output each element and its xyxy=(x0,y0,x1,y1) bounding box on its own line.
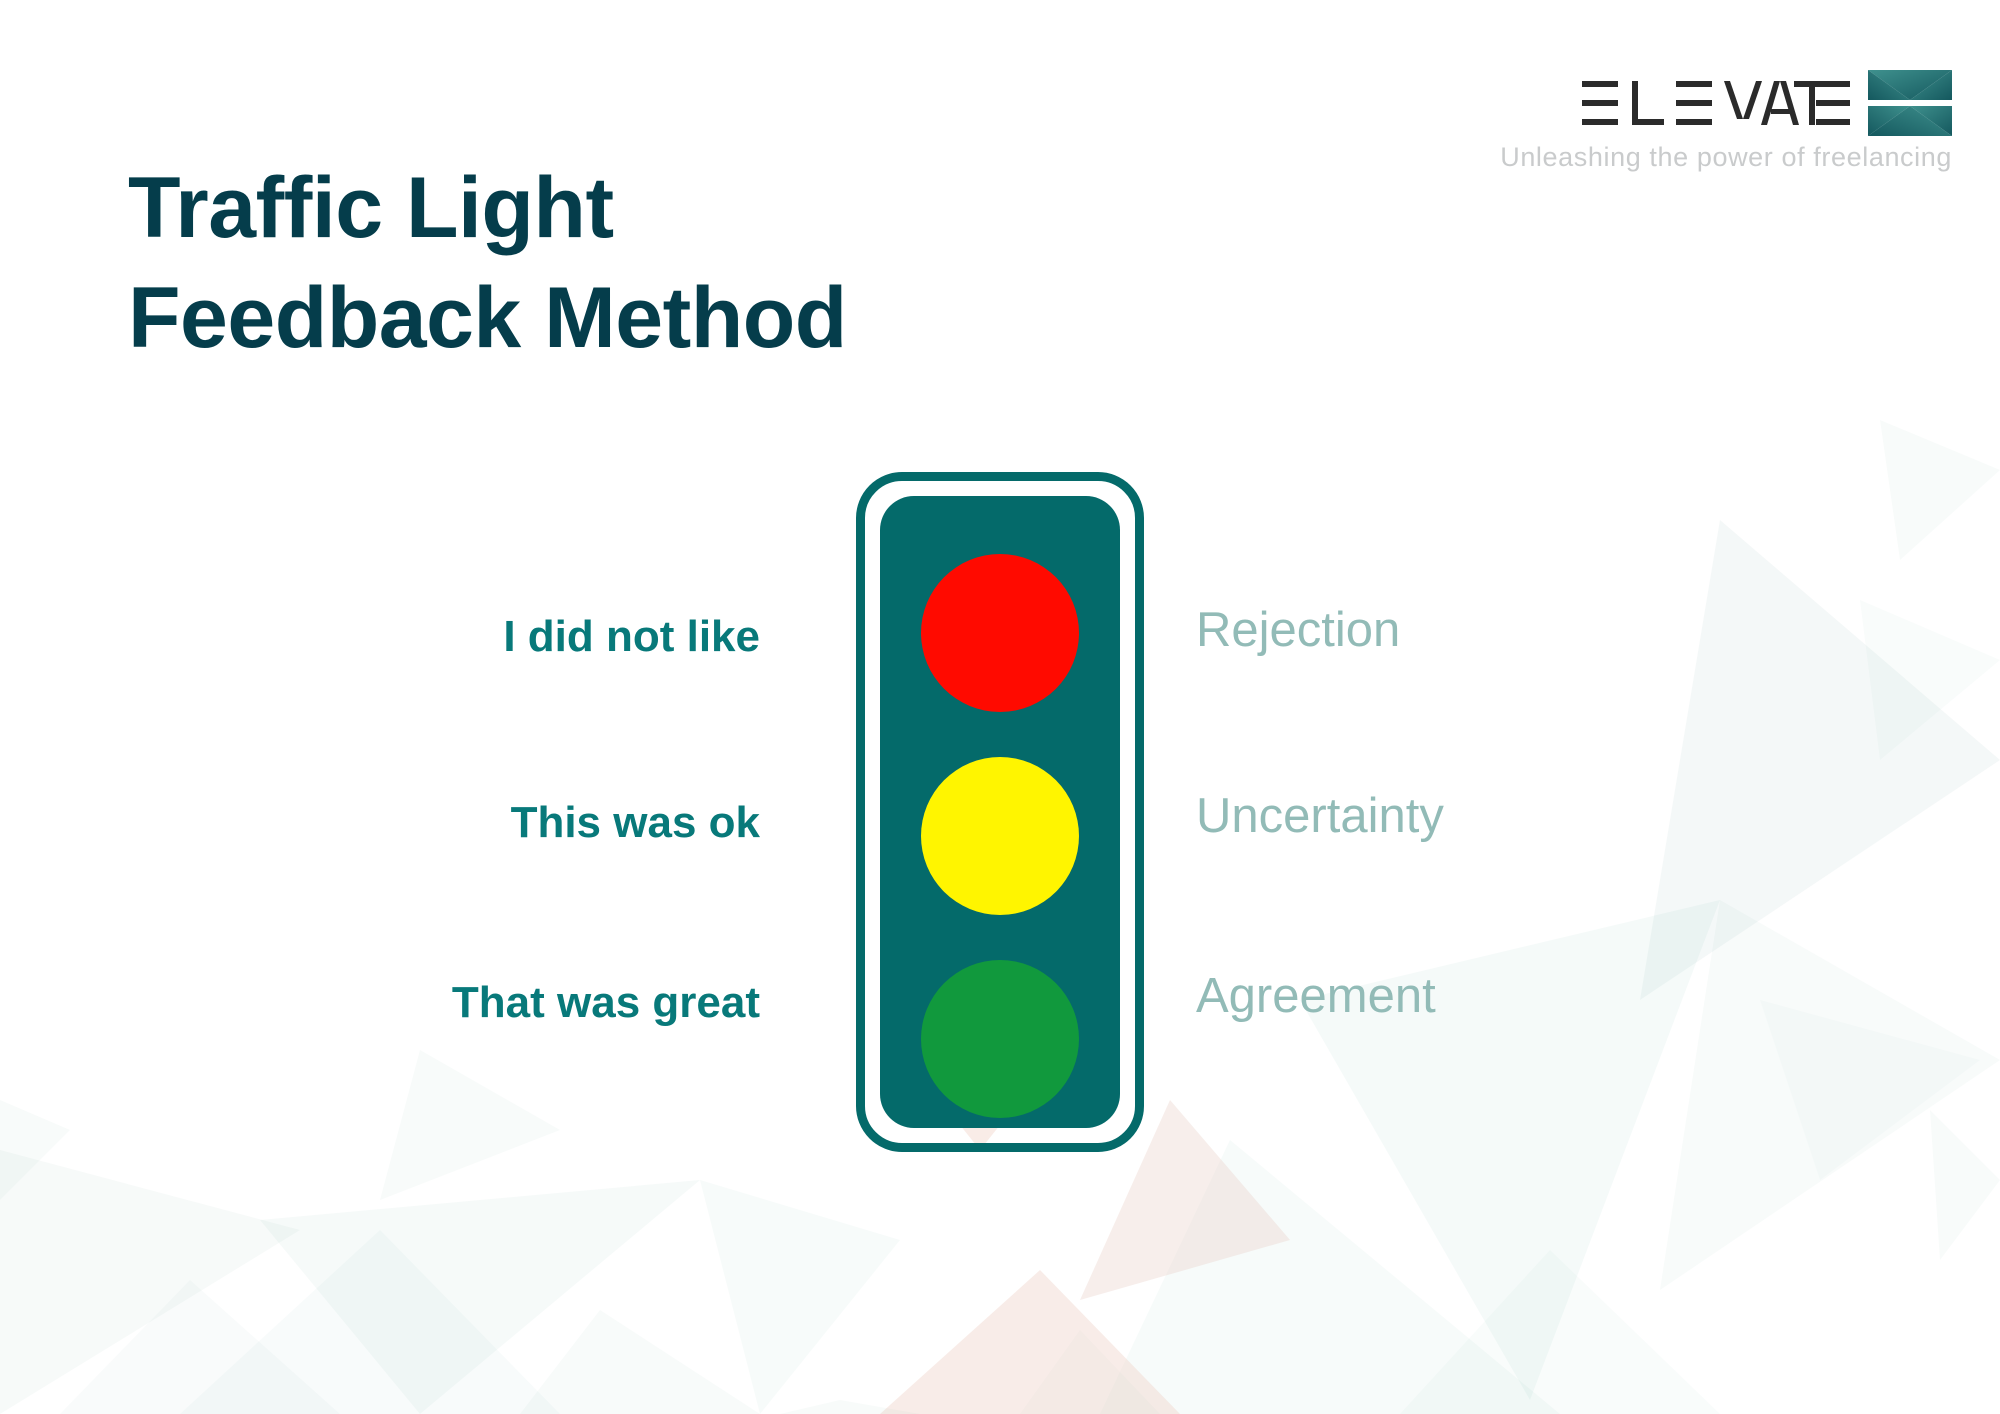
elevate-x-mark-icon xyxy=(1868,70,1952,136)
brand-logo: Unleashing the power of freelancing xyxy=(1452,70,1952,173)
left-label-uncertainty: This was ok xyxy=(60,798,760,848)
slide-canvas: Traffic Light Feedback Method xyxy=(0,0,2000,1414)
traffic-light-housing xyxy=(880,496,1120,1128)
right-label-rejection: Rejection xyxy=(1196,602,1896,658)
logo-mark-row xyxy=(1452,70,1952,136)
page-title-line-1: Traffic Light xyxy=(128,153,1128,263)
right-label-uncertainty: Uncertainty xyxy=(1196,788,1896,844)
yellow-lamp xyxy=(921,757,1079,915)
page-title: Traffic Light Feedback Method xyxy=(128,153,1128,373)
elevate-wordmark-icon xyxy=(1580,73,1852,133)
right-label-agreement: Agreement xyxy=(1196,968,1896,1024)
green-lamp xyxy=(921,960,1079,1118)
left-label-rejection: I did not like xyxy=(60,612,760,662)
traffic-light-graphic xyxy=(856,472,1144,1152)
red-lamp xyxy=(921,554,1079,712)
logo-tagline: Unleashing the power of freelancing xyxy=(1452,142,1952,173)
left-label-agreement: That was great xyxy=(60,978,760,1028)
page-title-line-2: Feedback Method xyxy=(128,263,1128,373)
